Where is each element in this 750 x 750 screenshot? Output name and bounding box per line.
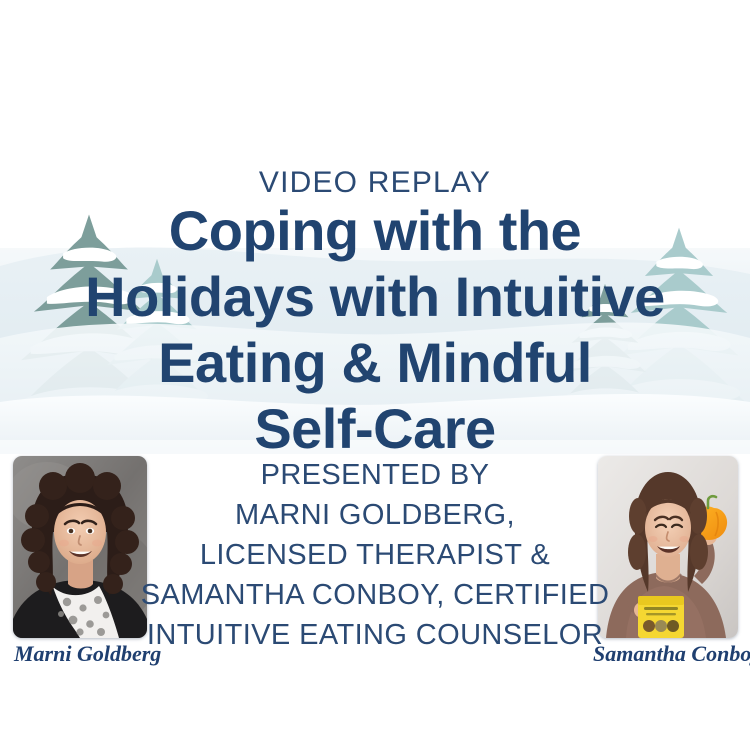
presenter-name-marni: Marni Goldberg (14, 641, 161, 667)
presenter-photo-marni-goldberg (13, 456, 147, 638)
presenter-photo-samantha-conboy (598, 456, 738, 638)
webinar-promo-poster: VIDEO REPLAY Coping with the Holidays wi… (0, 0, 750, 750)
winter-scene-background (0, 188, 750, 454)
winter-scene-illustration (0, 188, 750, 454)
headshot-illustration-samantha (598, 456, 738, 638)
yellow-product-package (638, 596, 684, 638)
presenter-name-samantha: Samantha Conboy (593, 641, 750, 667)
headshot-illustration-marni (13, 456, 147, 638)
